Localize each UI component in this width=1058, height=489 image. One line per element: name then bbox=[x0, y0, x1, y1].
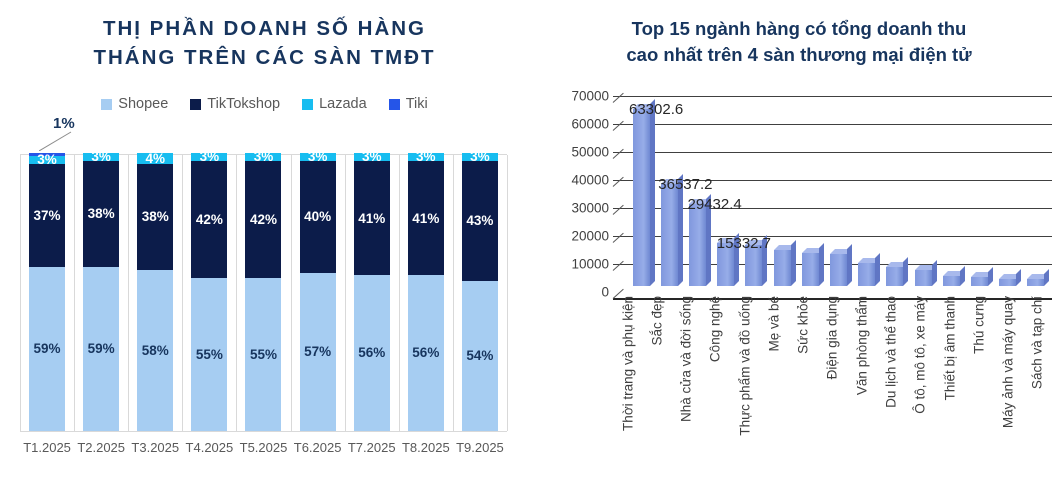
legend-label-shopee: Shopee bbox=[118, 96, 168, 112]
bar-segment-label: 3% bbox=[416, 150, 436, 164]
bar-segment-label: 54% bbox=[466, 349, 493, 363]
bar-segment-label: 57% bbox=[304, 345, 331, 359]
bar[interactable] bbox=[774, 250, 791, 286]
right-plot-box: 63302.636537.229432.415332.7 bbox=[613, 96, 1052, 292]
x-axis-category-label: Sức khỏe bbox=[796, 296, 811, 354]
bar-segment-label: 40% bbox=[304, 210, 331, 224]
bar-segment-tiktokshop[interactable]: 41% bbox=[408, 161, 444, 275]
bar-segment-shopee[interactable]: 56% bbox=[408, 275, 444, 431]
bar-segment-lazada[interactable]: 3% bbox=[191, 153, 227, 161]
dashboard-root: THỊ PHẦN DOANH SỐ HÀNG THÁNG TRÊN CÁC SÀ… bbox=[0, 0, 1058, 489]
bar[interactable] bbox=[661, 184, 678, 286]
x-axis-category-column: Ô tô, mô tô, xe máy bbox=[906, 296, 935, 486]
x-axis-category-label: Điện gia dụng bbox=[825, 296, 840, 379]
x-axis-category-column: Công nghệ bbox=[701, 296, 730, 486]
bar-side-face bbox=[960, 266, 965, 286]
bar-segment-label: 41% bbox=[412, 212, 439, 226]
legend-swatch-lazada bbox=[302, 99, 313, 110]
stacked-bar-column[interactable]: 56%41%3% bbox=[345, 155, 399, 431]
stacked-bar-column[interactable]: 58%38%4% bbox=[128, 155, 182, 431]
bar-segment-label: 42% bbox=[196, 213, 223, 227]
bar-segment-lazada[interactable]: 3% bbox=[300, 153, 336, 161]
right-chart-title: Top 15 ngành hàng có tổng doanh thu cao … bbox=[589, 16, 1009, 68]
stacked-bar-column[interactable]: 59%37%3%1% bbox=[20, 155, 74, 431]
bar-segment-label: 38% bbox=[142, 210, 169, 224]
stacked-bar[interactable]: 57%40%3% bbox=[300, 153, 336, 431]
left-plot-area: 59%37%3%1%59%38%3%58%38%4%55%42%3%55%42%… bbox=[20, 154, 507, 432]
stacked-bar-column[interactable]: 54%43%3% bbox=[453, 155, 507, 431]
bar-side-face bbox=[847, 244, 852, 286]
bar-value-label: 29432.4 bbox=[688, 196, 742, 213]
stacked-bar[interactable]: 55%42%3% bbox=[191, 153, 227, 431]
stacked-bar-column[interactable]: 56%41%3% bbox=[399, 155, 453, 431]
x-axis-category-label: Nhà cửa và đời sống bbox=[679, 296, 694, 422]
bar[interactable] bbox=[1027, 279, 1044, 286]
bar-side-face bbox=[650, 99, 655, 286]
x-axis-category-column: Điện gia dụng bbox=[818, 296, 847, 486]
bar[interactable] bbox=[943, 276, 960, 286]
stacked-bar[interactable]: 56%41%3% bbox=[408, 153, 444, 431]
bar-segment-lazada[interactable]: 3% bbox=[408, 153, 444, 161]
legend-item-shopee[interactable]: Shopee bbox=[101, 96, 168, 112]
x-axis-tick-label: T9.2025 bbox=[453, 440, 507, 466]
x-axis-tick-label: T3.2025 bbox=[128, 440, 182, 466]
bar-value-label: 15332.7 bbox=[717, 235, 771, 252]
x-axis-category-label: Sắc đẹp bbox=[649, 296, 664, 346]
bar-column[interactable] bbox=[768, 96, 796, 286]
bar-segment-lazada[interactable]: 3% bbox=[83, 153, 119, 161]
bar[interactable] bbox=[830, 254, 847, 286]
bar-segment-label: 43% bbox=[466, 214, 493, 228]
depth-axis-tick bbox=[613, 93, 624, 103]
depth-axis-tick bbox=[613, 121, 624, 131]
depth-axis-tick bbox=[613, 205, 624, 215]
bar-side-face bbox=[903, 257, 908, 286]
bar-column[interactable] bbox=[796, 96, 824, 286]
legend-item-tiktokshop[interactable]: TikTokshop bbox=[190, 96, 280, 112]
stacked-bar[interactable]: 56%41%3% bbox=[354, 153, 390, 431]
stacked-bar[interactable]: 55%42%3% bbox=[245, 153, 281, 431]
depth-axis-tick bbox=[613, 149, 624, 159]
x-axis-category-column: Du lịch và thể thao bbox=[876, 296, 905, 486]
bar-column[interactable] bbox=[937, 96, 965, 286]
bar-segment-shopee[interactable]: 55% bbox=[191, 278, 227, 431]
x-axis-category-label: Thú cưng bbox=[971, 296, 986, 354]
right-chart-panel: Top 15 ngành hàng có tổng doanh thu cao … bbox=[529, 0, 1058, 489]
right-title-line-1: Top 15 ngành hàng có tổng doanh thu bbox=[589, 16, 1009, 42]
right-x-axis: Thời trang và phụ kiệnSắc đẹpNhà cửa và … bbox=[613, 296, 1052, 486]
bar[interactable] bbox=[858, 263, 875, 286]
bar-segment-tiktokshop[interactable]: 40% bbox=[300, 161, 336, 272]
bar[interactable] bbox=[689, 204, 706, 286]
bar-column[interactable] bbox=[627, 96, 655, 286]
bar-segment-tiktokshop[interactable]: 38% bbox=[137, 164, 173, 270]
x-axis-category-label: Thực phẩm và đồ uống bbox=[737, 296, 752, 436]
left-x-axis: T1.2025T2.2025T3.2025T4.2025T5.2025T6.20… bbox=[20, 440, 507, 466]
bar-segment-shopee[interactable]: 58% bbox=[137, 270, 173, 431]
right-y-axis-labels: 010000200003000040000500006000070000 bbox=[555, 96, 609, 292]
right-plot-area: 010000200003000040000500006000070000 633… bbox=[555, 96, 1052, 292]
bar-side-face bbox=[1044, 269, 1049, 286]
bar-side-face bbox=[932, 260, 937, 286]
bar-column[interactable] bbox=[740, 96, 768, 286]
bar-segment-label: 3% bbox=[470, 150, 490, 164]
bar-segment-shopee[interactable]: 59% bbox=[29, 267, 65, 431]
bar-segment-label: 37% bbox=[34, 209, 61, 223]
bar-segment-label: 4% bbox=[146, 152, 166, 166]
bar[interactable] bbox=[633, 109, 650, 286]
left-title-line-2: THÁNG TRÊN CÁC SÀN TMĐT bbox=[0, 43, 529, 72]
bar-segment-lazada[interactable]: 4% bbox=[137, 153, 173, 164]
depth-axis-tick bbox=[613, 233, 624, 243]
bar-segment-label: 59% bbox=[88, 342, 115, 356]
y-axis-tick-label: 30000 bbox=[571, 201, 609, 216]
legend-swatch-tiki bbox=[389, 99, 400, 110]
bar-segment-shopee[interactable]: 55% bbox=[245, 278, 281, 431]
stacked-bar-column[interactable]: 55%42%3% bbox=[236, 155, 290, 431]
legend-label-lazada: Lazada bbox=[319, 96, 367, 112]
x-axis-category-label: Thiết bị âm thanh bbox=[942, 296, 957, 400]
legend-swatch-shopee bbox=[101, 99, 112, 110]
bar[interactable] bbox=[971, 277, 988, 286]
x-axis-tick-label: T8.2025 bbox=[399, 440, 453, 466]
bar-segment-shopee[interactable]: 54% bbox=[462, 281, 498, 431]
bar-segment-label: 56% bbox=[412, 346, 439, 360]
bar-column[interactable] bbox=[853, 96, 881, 286]
stacked-bar[interactable]: 58%38%4% bbox=[137, 153, 173, 431]
legend-label-tiki: Tiki bbox=[406, 96, 428, 112]
y-axis-tick-label: 0 bbox=[601, 285, 609, 300]
bar-segment-label: 3% bbox=[308, 150, 328, 164]
left-title-line-1: THỊ PHẦN DOANH SỐ HÀNG bbox=[0, 14, 529, 43]
bar-segment-label: 3% bbox=[200, 150, 220, 164]
stacked-bar-column[interactable]: 57%40%3% bbox=[291, 155, 345, 431]
bar-segment-tiktokshop[interactable]: 42% bbox=[191, 161, 227, 278]
left-chart-panel: THỊ PHẦN DOANH SỐ HÀNG THÁNG TRÊN CÁC SÀ… bbox=[0, 0, 529, 489]
left-chart-title: THỊ PHẦN DOANH SỐ HÀNG THÁNG TRÊN CÁC SÀ… bbox=[0, 14, 529, 72]
x-axis-category-column: Thời trang và phụ kiện bbox=[613, 296, 642, 486]
bar-segment-label: 3% bbox=[254, 150, 274, 164]
x-axis-category-column: Thú cưng bbox=[964, 296, 993, 486]
bar-segment-label: 42% bbox=[250, 213, 277, 227]
bar-segment-shopee[interactable]: 59% bbox=[83, 267, 119, 431]
bar-segment-tiktokshop[interactable]: 41% bbox=[354, 161, 390, 275]
x-axis-category-column: Sắc đẹp bbox=[642, 296, 671, 486]
bar-side-face bbox=[875, 253, 880, 286]
stacked-bar[interactable]: 59%38%3% bbox=[83, 153, 119, 431]
x-axis-category-label: Sách và tạp chí bbox=[1030, 296, 1045, 389]
x-axis-category-label: Công nghệ bbox=[708, 296, 723, 362]
x-axis-tick-label: T5.2025 bbox=[236, 440, 290, 466]
bar-column[interactable] bbox=[712, 96, 740, 286]
stacked-bar-column[interactable]: 59%38%3% bbox=[74, 155, 128, 431]
depth-axis-tick bbox=[613, 261, 624, 271]
x-axis-category-label: Máy ảnh và máy quay bbox=[1001, 296, 1016, 428]
x-axis-tick-label: T4.2025 bbox=[182, 440, 236, 466]
x-axis-category-label: Ô tô, mô tô, xe máy bbox=[913, 296, 928, 414]
bar-segment-lazada[interactable]: 3% bbox=[354, 153, 390, 161]
stacked-bar[interactable]: 59%37%3%1% bbox=[29, 153, 65, 431]
bar-segment-tiktokshop[interactable]: 43% bbox=[462, 161, 498, 281]
y-axis-tick-label: 60000 bbox=[571, 117, 609, 132]
x-axis-category-label: Mẹ và bé bbox=[766, 296, 781, 352]
bar-segment-tiktokshop[interactable]: 42% bbox=[245, 161, 281, 278]
x-axis-category-label: Thời trang và phụ kiện bbox=[620, 296, 635, 431]
x-axis-category-label: Văn phòng thẩm bbox=[854, 296, 869, 395]
bar-segment-label: 55% bbox=[250, 348, 277, 362]
bar-value-label: 63302.6 bbox=[629, 101, 683, 118]
bar-column[interactable] bbox=[1022, 96, 1050, 286]
bar-segment-label: 55% bbox=[196, 348, 223, 362]
left-stacked-bars: 59%37%3%1%59%38%3%58%38%4%55%42%3%55%42%… bbox=[20, 155, 507, 431]
legend-label-tiktokshop: TikTokshop bbox=[207, 96, 280, 112]
y-axis-tick-label: 40000 bbox=[571, 173, 609, 188]
y-axis-tick-label: 50000 bbox=[571, 145, 609, 160]
x-axis-tick-label: T6.2025 bbox=[291, 440, 345, 466]
stacked-bar-column[interactable]: 55%42%3% bbox=[182, 155, 236, 431]
bar-segment-shopee[interactable]: 56% bbox=[354, 275, 390, 431]
x-axis-tick-label: T7.2025 bbox=[345, 440, 399, 466]
tiki-callout-label: 1% bbox=[53, 115, 75, 132]
bar-side-face bbox=[1016, 269, 1021, 286]
bar-segment-label: 3% bbox=[37, 153, 57, 167]
bar[interactable] bbox=[999, 279, 1016, 286]
x-axis-category-column: Máy ảnh và máy quay bbox=[993, 296, 1022, 486]
x-axis-tick-label: T1.2025 bbox=[20, 440, 74, 466]
x-axis-tick-label: T2.2025 bbox=[74, 440, 128, 466]
bar-segment-label: 3% bbox=[91, 150, 111, 164]
legend-item-lazada[interactable]: Lazada bbox=[302, 96, 367, 112]
bar-column[interactable] bbox=[994, 96, 1022, 286]
bar-segment-lazada[interactable]: 3% bbox=[245, 153, 281, 161]
stacked-bar[interactable]: 54%43%3% bbox=[462, 153, 498, 431]
depth-axis-tick bbox=[613, 177, 624, 187]
bar-segment-label: 38% bbox=[88, 207, 115, 221]
bar-segment-lazada[interactable]: 3% bbox=[462, 153, 498, 161]
x-axis-category-column: Văn phòng thẩm bbox=[847, 296, 876, 486]
bar-value-label: 36537.2 bbox=[658, 176, 712, 193]
bar-segment-lazada[interactable]: 3% bbox=[29, 156, 65, 164]
bar-segment-label: 41% bbox=[358, 212, 385, 226]
bar-side-face bbox=[988, 267, 993, 286]
bar-segment-label: 56% bbox=[358, 346, 385, 360]
x-axis-category-label: Du lịch và thể thao bbox=[884, 296, 899, 408]
bar-column[interactable] bbox=[909, 96, 937, 286]
x-axis-category-column: Mẹ và bé bbox=[759, 296, 788, 486]
bar-segment-label: 58% bbox=[142, 344, 169, 358]
legend-swatch-tiktokshop bbox=[190, 99, 201, 110]
bar-segment-tiktokshop[interactable]: 38% bbox=[83, 161, 119, 267]
x-axis-category-column: Thực phẩm và đồ uống bbox=[730, 296, 759, 486]
x-axis-category-column: Nhà cửa và đời sống bbox=[672, 296, 701, 486]
bar-side-face bbox=[819, 243, 824, 286]
left-chart-legend: Shopee TikTokshop Lazada Tiki bbox=[0, 96, 529, 112]
bar[interactable] bbox=[886, 267, 903, 286]
bar-segment-label: 59% bbox=[34, 342, 61, 356]
bar[interactable] bbox=[802, 253, 819, 286]
x-axis-category-column: Sức khỏe bbox=[789, 296, 818, 486]
legend-item-tiki[interactable]: Tiki bbox=[389, 96, 428, 112]
bar[interactable] bbox=[915, 270, 932, 286]
x-axis-category-column: Sách và tạp chí bbox=[1023, 296, 1052, 486]
y-axis-tick-label: 70000 bbox=[571, 89, 609, 104]
tiki-callout-leader-line bbox=[39, 131, 73, 151]
bar-side-face bbox=[791, 240, 796, 286]
x-axis-category-column: Thiết bị âm thanh bbox=[935, 296, 964, 486]
y-axis-tick-label: 20000 bbox=[571, 229, 609, 244]
bar-segment-shopee[interactable]: 57% bbox=[300, 273, 336, 431]
bar-column[interactable] bbox=[824, 96, 852, 286]
bar-column[interactable] bbox=[881, 96, 909, 286]
bar-segment-label: 3% bbox=[362, 150, 382, 164]
right-title-line-2: cao nhất trên 4 sàn thương mại điện tử bbox=[589, 42, 1009, 68]
y-axis-tick-label: 10000 bbox=[571, 257, 609, 272]
vertical-gridline bbox=[507, 155, 508, 431]
bar-segment-tiktokshop[interactable]: 37% bbox=[29, 164, 65, 267]
bar-column[interactable] bbox=[965, 96, 993, 286]
